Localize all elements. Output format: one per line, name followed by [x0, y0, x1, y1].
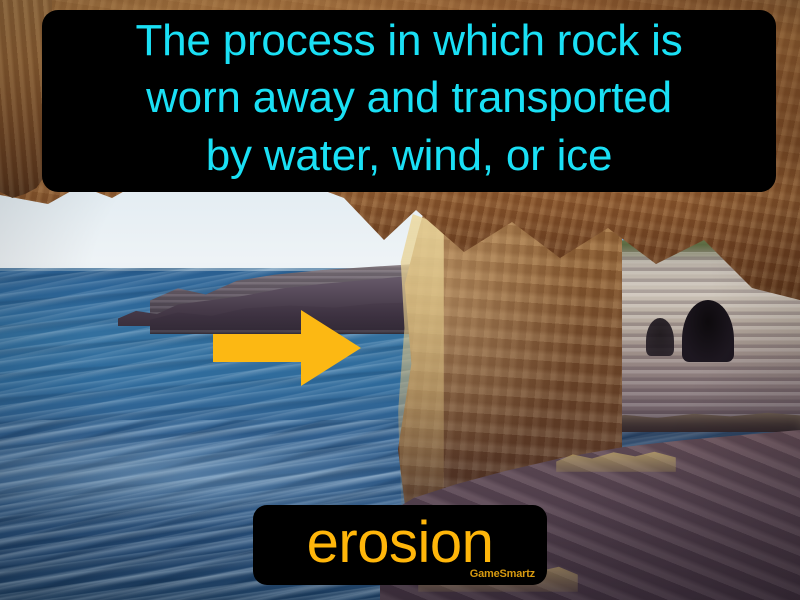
definition-text: The process in which rock is worn away a…: [56, 12, 762, 185]
definition-card: The process in which rock is worn away a…: [0, 0, 800, 600]
pillar-sunlit-edge: [398, 214, 444, 514]
answer-term: erosion: [253, 509, 547, 577]
answer-panel: erosion GameSmartz: [253, 505, 547, 585]
sea-cave-entrance-small: [646, 318, 674, 356]
watermark-label: GameSmartz: [470, 568, 535, 580]
definition-panel: The process in which rock is worn away a…: [42, 10, 776, 192]
right-arrow-icon: [213, 310, 361, 386]
